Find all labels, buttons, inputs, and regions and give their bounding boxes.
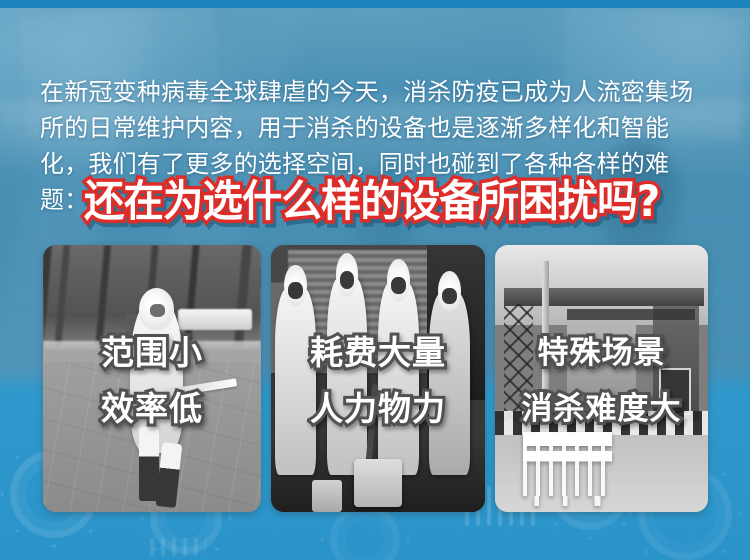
poster: 在新冠变种病毒全球肆虐的今天，消杀防疫已成为人流密集场所的日常维护内容，用于消杀… [0,0,750,560]
photo-sprayer-tank [354,459,401,507]
card-caption: 范围小 效率低 [43,325,261,437]
card-special-scene[interactable]: 特殊场景 消杀难度大 [495,245,708,512]
top-accent-strip [0,0,750,8]
photo-gantry-beam [567,309,695,320]
card-row: 范围小 效率低 耗费大量 人力物力 [43,245,708,512]
virus-motif-icon [330,504,400,560]
caption-line-1: 范围小 [43,325,261,381]
photo-worker-leg [139,427,159,502]
photo-gantry-beam [504,288,704,307]
photo-barrier [523,432,612,496]
caption-line-1: 耗费大量 [271,325,485,381]
caption-line-2: 效率低 [43,381,261,437]
caption-line-2: 人力物力 [271,381,485,437]
background-bars-left [150,538,206,556]
card-caption: 特殊场景 消杀难度大 [495,325,708,437]
card-manpower-cost[interactable]: 耗费大量 人力物力 [271,245,485,512]
caption-line-1: 特殊场景 [495,325,708,381]
card-range-efficiency[interactable]: 范围小 效率低 [43,245,261,512]
card-caption: 耗费大量 人力物力 [271,325,485,437]
photo-sprayer-tank [312,480,342,512]
headline-container: 还在为选什么样的设备所困扰吗? [84,178,696,226]
caption-line-2: 消杀难度大 [495,381,708,437]
photo-worker-mask [150,304,165,317]
headline-text: 还在为选什么样的设备所困扰吗? [84,179,659,225]
